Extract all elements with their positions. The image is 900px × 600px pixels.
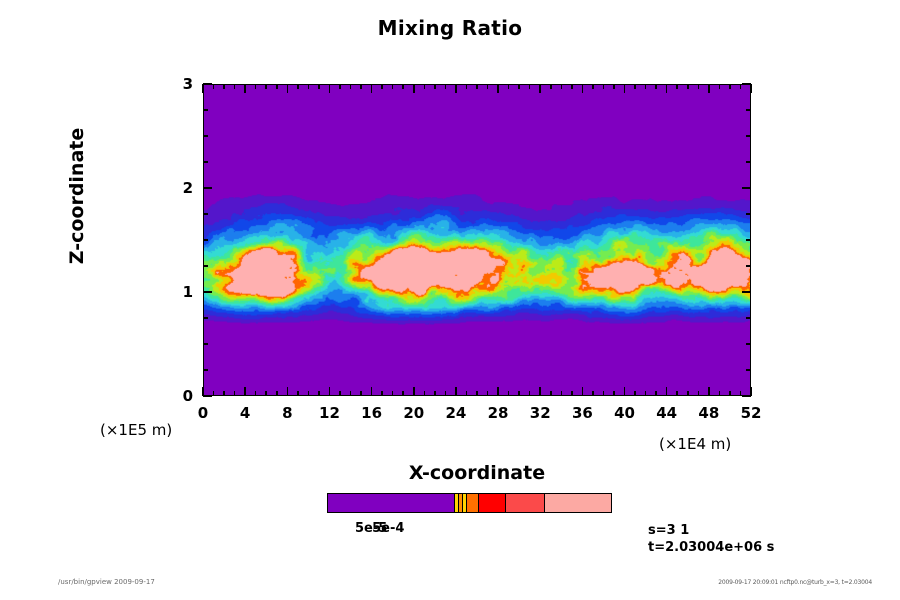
x-tick-label: 0 bbox=[188, 404, 218, 422]
x-axis-unit: (×1E4 m) bbox=[659, 435, 731, 453]
x-tick-label: 24 bbox=[441, 404, 471, 422]
footer-metadata: 2009-09-17 20:09:01 ncftp0.nc@turb_x=3, … bbox=[718, 579, 872, 586]
x-tick-label: 44 bbox=[652, 404, 682, 422]
colorbar-tick-label: 5e-4 bbox=[372, 521, 404, 536]
x-tick-label: 40 bbox=[610, 404, 640, 422]
slice-annotation: s=3 1 bbox=[648, 523, 689, 538]
y-tick-label: 3 bbox=[167, 75, 193, 93]
x-tick-label: 32 bbox=[525, 404, 555, 422]
colorbar[interactable] bbox=[327, 493, 612, 513]
y-axis-title: Z-coordinate bbox=[66, 106, 88, 286]
x-tick-label: 36 bbox=[567, 404, 597, 422]
footer-command: /usr/bin/gpview 2009-09-17 bbox=[58, 578, 155, 586]
colorbar-segment bbox=[545, 494, 612, 512]
y-tick-label: 1 bbox=[167, 283, 193, 301]
y-axis-unit: (×1E5 m) bbox=[100, 421, 172, 439]
y-tick-label: 0 bbox=[167, 387, 193, 405]
mixing-ratio-field bbox=[204, 85, 750, 395]
y-tick-label: 2 bbox=[167, 179, 193, 197]
x-tick-label: 12 bbox=[314, 404, 344, 422]
colorbar-segment bbox=[328, 494, 455, 512]
x-axis-title: X-coordinate bbox=[203, 462, 751, 484]
x-tick-label: 52 bbox=[736, 404, 766, 422]
colorbar-segment bbox=[506, 494, 544, 512]
x-tick-label: 16 bbox=[357, 404, 387, 422]
colorbar-segment bbox=[467, 494, 479, 512]
x-tick-label: 20 bbox=[399, 404, 429, 422]
x-tick-label: 4 bbox=[230, 404, 260, 422]
time-annotation: t=2.03004e+06 s bbox=[648, 540, 774, 555]
colorbar-segment bbox=[479, 494, 506, 512]
x-tick-label: 28 bbox=[483, 404, 513, 422]
x-tick-label: 8 bbox=[272, 404, 302, 422]
colorbar-tick-labels: 5e-55e-4 bbox=[327, 521, 612, 539]
page-title: Mixing Ratio bbox=[0, 16, 900, 40]
x-tick-label: 48 bbox=[694, 404, 724, 422]
contour-plot-panel[interactable] bbox=[203, 84, 751, 396]
